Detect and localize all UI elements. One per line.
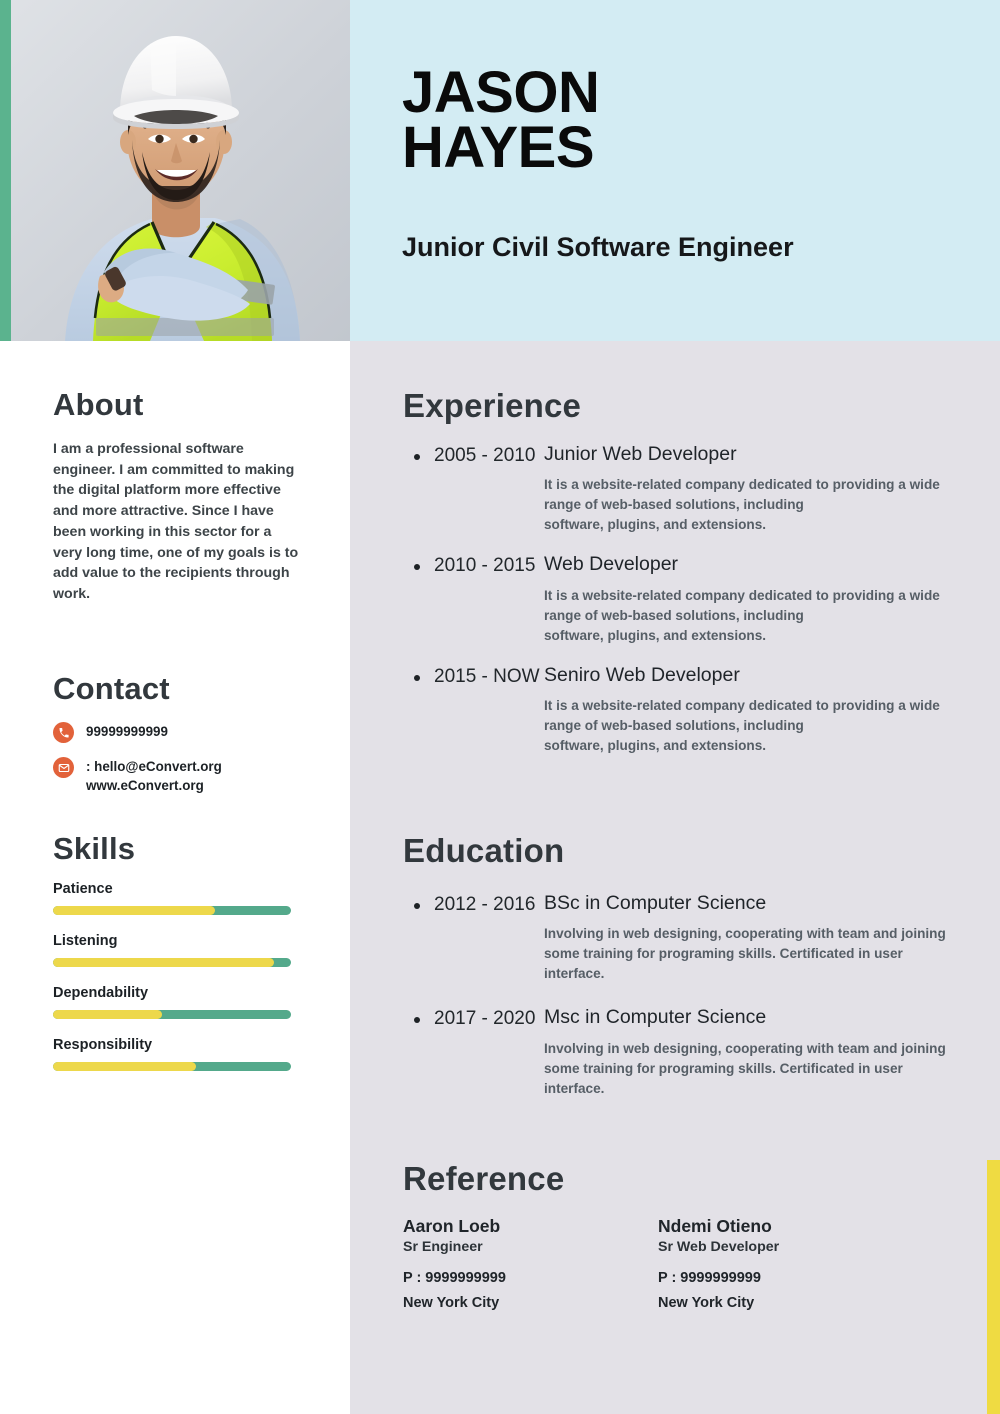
skill-progress-fill bbox=[53, 1010, 162, 1019]
envelope-icon bbox=[53, 757, 74, 778]
experience-title: Seniro Web Developer bbox=[544, 664, 963, 687]
about-section: About I am a professional software engin… bbox=[53, 387, 303, 619]
experience-description: It is a website-related company dedicate… bbox=[544, 586, 963, 646]
contact-item-phone[interactable]: 99999999999 bbox=[53, 721, 313, 743]
skill-progress-bar bbox=[53, 958, 291, 967]
education-heading: Education bbox=[403, 832, 963, 870]
header-text-pane: JASON HAYES Junior Civil Software Engine… bbox=[350, 0, 1000, 341]
education-title: BSc in Computer Science bbox=[544, 892, 963, 915]
reference-phone: P : 9999999999 bbox=[403, 1270, 658, 1286]
reference-heading: Reference bbox=[403, 1160, 963, 1198]
main-content: Experience 2005 - 2010 Junior Web Develo… bbox=[350, 341, 1000, 1414]
education-section: Education 2012 - 2016 BSc in Computer Sc… bbox=[403, 832, 963, 1099]
skill-item: Patience bbox=[53, 881, 313, 915]
page-title: JASON HAYES bbox=[402, 66, 962, 175]
portrait-illustration bbox=[0, 0, 350, 341]
contact-email-value: : hello@eConvert.org www.eConvert.org bbox=[86, 756, 222, 796]
bullet-icon bbox=[414, 675, 420, 681]
experience-title: Web Developer bbox=[544, 553, 963, 576]
experience-entry: 2015 - NOW Seniro Web Developer It is a … bbox=[403, 664, 963, 756]
reference-city: New York City bbox=[403, 1295, 658, 1311]
resume-header: JASON HAYES Junior Civil Software Engine… bbox=[0, 0, 1000, 341]
experience-description: It is a website-related company dedicate… bbox=[544, 696, 963, 756]
reference-role: Sr Web Developer bbox=[658, 1239, 913, 1255]
skill-item: Listening bbox=[53, 933, 313, 967]
skill-item: Dependability bbox=[53, 985, 313, 1019]
right-yellow-accent-bar bbox=[987, 1160, 1000, 1414]
resume-page: JASON HAYES Junior Civil Software Engine… bbox=[0, 0, 1000, 1414]
experience-date: 2010 - 2015 bbox=[434, 553, 544, 578]
skill-label: Listening bbox=[53, 933, 313, 949]
contact-item-email[interactable]: : hello@eConvert.org www.eConvert.org bbox=[53, 756, 313, 796]
bullet-icon bbox=[414, 1017, 420, 1023]
skills-list: Patience Listening Dependability bbox=[53, 881, 313, 1071]
profile-photo bbox=[0, 0, 350, 341]
skill-label: Responsibility bbox=[53, 1037, 313, 1053]
education-description: Involving in web designing, cooperating … bbox=[544, 1039, 963, 1099]
reference-name: Aaron Loeb bbox=[403, 1216, 658, 1237]
reference-card: Ndemi Otieno Sr Web Developer P : 999999… bbox=[658, 1216, 913, 1311]
reference-phone: P : 9999999999 bbox=[658, 1270, 913, 1286]
education-entry: 2017 - 2020 Msc in Computer Science Invo… bbox=[403, 1006, 963, 1098]
job-title-subtitle: Junior Civil Software Engineer bbox=[402, 231, 822, 264]
skill-progress-bar bbox=[53, 1010, 291, 1019]
education-date: 2017 - 2020 bbox=[434, 1006, 544, 1031]
bullet-icon bbox=[414, 454, 420, 460]
experience-date: 2005 - 2010 bbox=[434, 443, 544, 468]
experience-title: Junior Web Developer bbox=[544, 443, 963, 466]
left-sidebar: About I am a professional software engin… bbox=[0, 341, 350, 1414]
skill-label: Patience bbox=[53, 881, 313, 897]
reference-city: New York City bbox=[658, 1295, 913, 1311]
reference-card: Aaron Loeb Sr Engineer P : 9999999999 Ne… bbox=[403, 1216, 658, 1311]
reference-name: Ndemi Otieno bbox=[658, 1216, 913, 1237]
contact-phone-value: 99999999999 bbox=[86, 721, 168, 741]
about-heading: About bbox=[53, 387, 303, 423]
skill-progress-fill bbox=[53, 1062, 196, 1071]
experience-heading: Experience bbox=[403, 387, 963, 425]
left-green-accent-bar bbox=[0, 0, 11, 341]
contact-heading: Contact bbox=[53, 671, 313, 707]
education-description: Involving in web designing, cooperating … bbox=[544, 924, 963, 984]
bullet-icon bbox=[414, 564, 420, 570]
about-body-text: I am a professional software engineer. I… bbox=[53, 439, 303, 605]
experience-entry: 2010 - 2015 Web Developer It is a websit… bbox=[403, 553, 963, 645]
reference-role: Sr Engineer bbox=[403, 1239, 658, 1255]
skill-progress-bar bbox=[53, 906, 291, 915]
reference-section: Reference Aaron Loeb Sr Engineer P : 999… bbox=[403, 1160, 963, 1311]
experience-section: Experience 2005 - 2010 Junior Web Develo… bbox=[403, 387, 963, 756]
experience-date: 2015 - NOW bbox=[434, 664, 544, 689]
skill-label: Dependability bbox=[53, 985, 313, 1001]
experience-entry: 2005 - 2010 Junior Web Developer It is a… bbox=[403, 443, 963, 535]
skill-progress-bar bbox=[53, 1062, 291, 1071]
bullet-icon bbox=[414, 903, 420, 909]
skills-section: Skills Patience Listening Dependability bbox=[53, 831, 313, 1089]
skill-progress-fill bbox=[53, 906, 215, 915]
skills-heading: Skills bbox=[53, 831, 313, 867]
skill-item: Responsibility bbox=[53, 1037, 313, 1071]
skill-progress-fill bbox=[53, 958, 274, 967]
experience-description: It is a website-related company dedicate… bbox=[544, 475, 963, 535]
education-title: Msc in Computer Science bbox=[544, 1006, 963, 1029]
education-date: 2012 - 2016 bbox=[434, 892, 544, 917]
phone-icon bbox=[53, 722, 74, 743]
contact-section: Contact 99999999999 bbox=[53, 671, 313, 809]
education-entry: 2012 - 2016 BSc in Computer Science Invo… bbox=[403, 892, 963, 984]
